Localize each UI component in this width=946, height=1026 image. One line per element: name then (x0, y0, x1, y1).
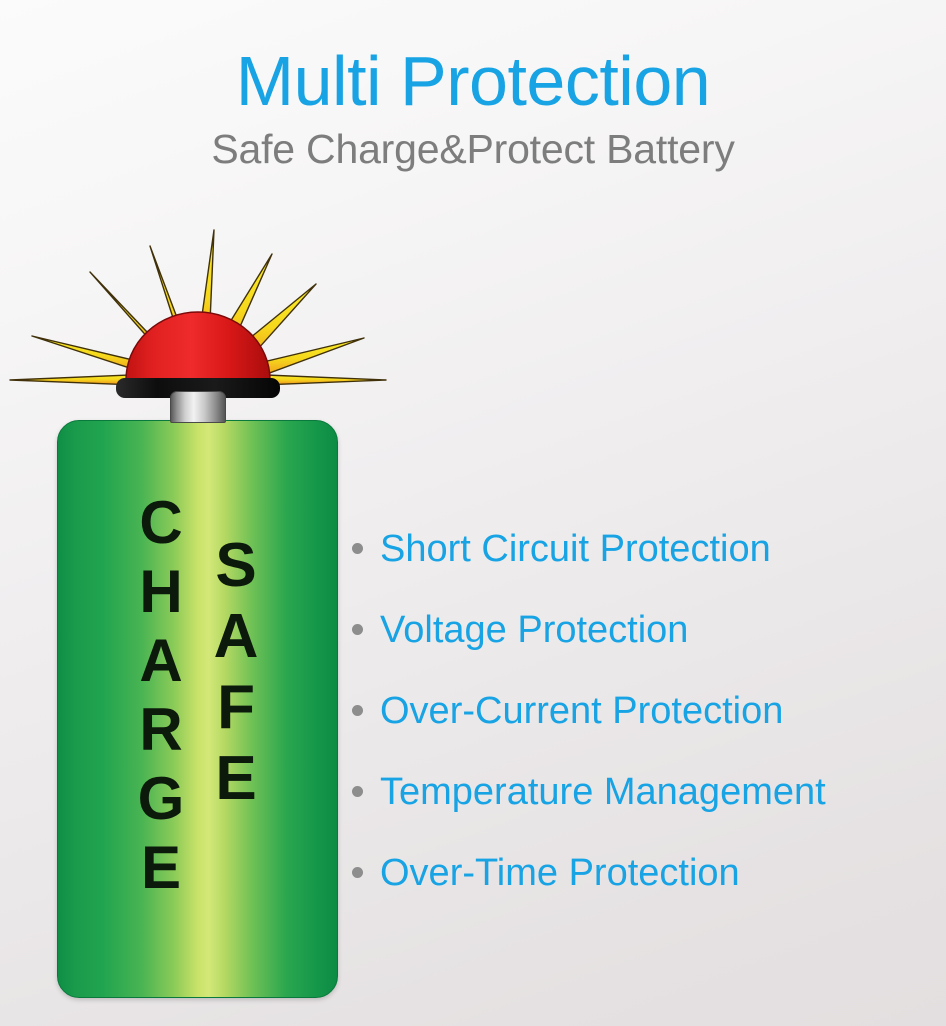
bullet-icon (352, 705, 363, 716)
beacon-dome-icon (126, 312, 270, 380)
beacon-svg (0, 228, 400, 398)
battery-body: SAFE CHARGE (57, 420, 338, 998)
page-subtitle: Safe Charge&Protect Battery (0, 124, 946, 174)
bullet-icon (352, 867, 363, 878)
list-item: Over-Time Protection (352, 832, 944, 913)
battery-label-charge: CHARGE (131, 489, 191, 903)
battery-terminal-icon (170, 391, 226, 423)
feature-label-voltage-protection: Voltage Protection (380, 608, 688, 652)
feature-label-short-circuit-protection: Short Circuit Protection (380, 527, 771, 571)
battery-label: SAFE CHARGE (58, 421, 338, 998)
list-item: Over-Current Protection (352, 670, 944, 751)
alarm-beacon-icon (0, 228, 400, 398)
battery-label-safe: SAFE (205, 531, 267, 815)
header: Multi Protection Safe Charge&Protect Bat… (0, 0, 946, 174)
feature-label-over-current-protection: Over-Current Protection (380, 689, 783, 733)
feature-label-over-time-protection: Over-Time Protection (380, 851, 740, 895)
page-title: Multi Protection (0, 42, 946, 120)
bullet-icon (352, 786, 363, 797)
feature-label-temperature-management: Temperature Management (380, 770, 826, 814)
list-item: Temperature Management (352, 751, 944, 832)
bullet-icon (352, 543, 363, 554)
battery-illustration: SAFE CHARGE (0, 228, 400, 1018)
multi-protection-poster: Multi Protection Safe Charge&Protect Bat… (0, 0, 946, 1026)
list-item: Voltage Protection (352, 589, 944, 670)
feature-list: Short Circuit Protection Voltage Protect… (352, 508, 944, 913)
list-item: Short Circuit Protection (352, 508, 944, 589)
bullet-icon (352, 624, 363, 635)
